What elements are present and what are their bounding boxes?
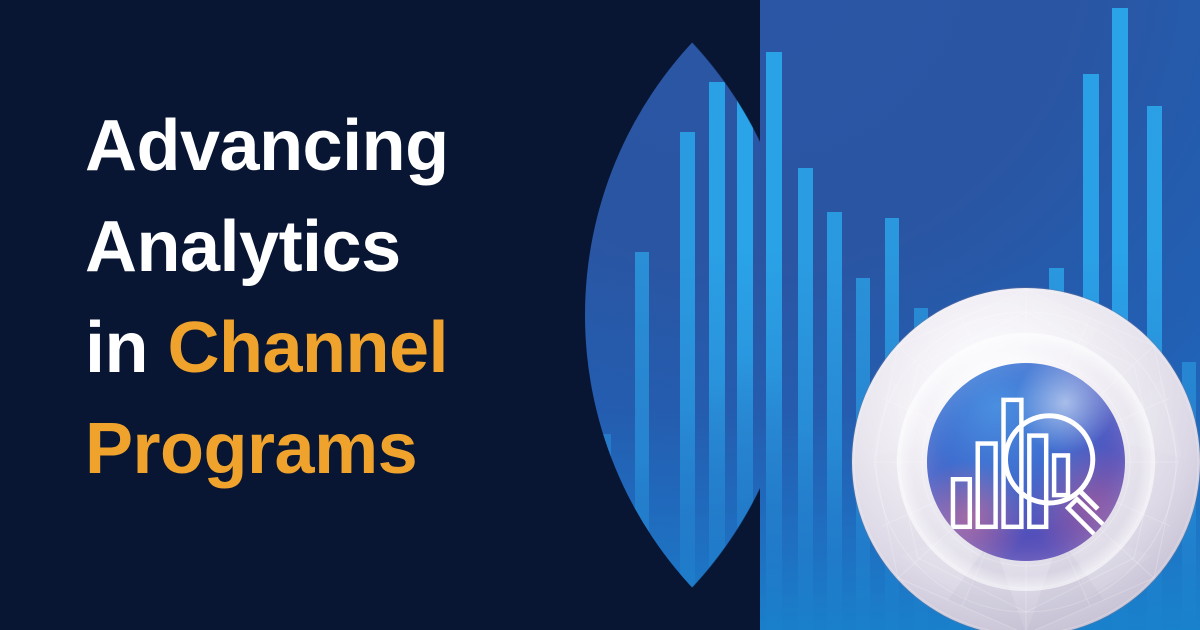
chart-bar — [766, 52, 782, 630]
chart-bar — [737, 20, 753, 630]
sphere-core — [927, 363, 1125, 561]
chart-bar — [827, 212, 842, 630]
chart-bar — [680, 132, 695, 630]
headline-line-3-accent: Channel — [168, 308, 449, 388]
chart-bar — [798, 168, 813, 630]
chart-bar — [709, 82, 725, 630]
sphere-shell — [852, 288, 1200, 630]
headline-line-1: Advancing — [85, 96, 555, 197]
headline-line-2: Analytics — [85, 197, 555, 298]
banner-canvas: Advancing Analytics in Channel Programs — [0, 0, 1200, 630]
page-title: Advancing Analytics in Channel Programs — [85, 96, 555, 500]
analytics-sphere — [852, 288, 1200, 630]
headline-line-4: Programs — [85, 399, 555, 500]
bar-chart-magnifier-icon — [947, 387, 1106, 538]
headline-line-3-prefix: in — [85, 308, 168, 388]
chart-bar — [635, 252, 649, 630]
headline-line-3: in Channel — [85, 298, 555, 399]
chart-bar — [597, 434, 611, 630]
